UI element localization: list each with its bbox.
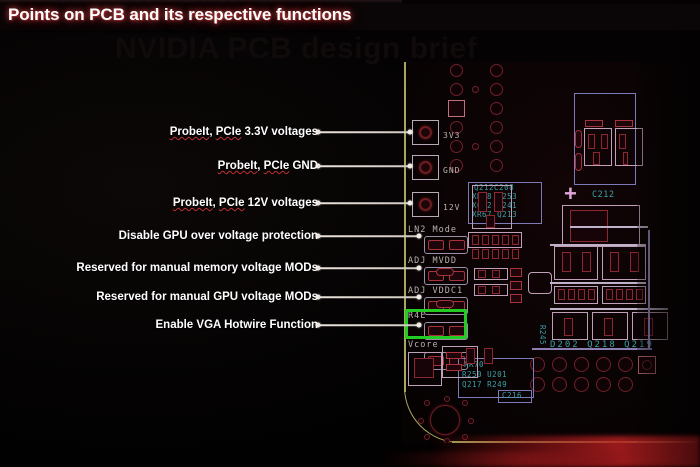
callout-layer: ProbeIt, PCIe 3.3V voltages ProbeIt, PCI… [0, 0, 700, 467]
callout-label-ln2-mode: Disable GPU over voltage protection [119, 230, 318, 242]
callout-leader-line [318, 296, 419, 298]
callout-endpoint-dot [417, 295, 422, 300]
callout-label-r4e-hotwire: Enable VGA Hotwire Function [156, 319, 319, 331]
callout-leader-line [318, 202, 410, 204]
callout-endpoint-dot [408, 164, 413, 169]
callout-endpoint-dot [408, 130, 413, 135]
callout-leader-line [318, 165, 410, 167]
screenshot-root: 3V3 GND 12V LN2 Mode ADJ MVDD ADJ VDDC1 … [0, 0, 700, 467]
callout-leader-line [318, 324, 419, 326]
callout-leader-line [318, 235, 419, 237]
callout-label-pcie-12v: ProbeIt, PCIe 12V voltages [173, 197, 318, 209]
callout-endpoint-dot [417, 323, 422, 328]
callout-label-adj-mvdd: Reserved for manual memory voltage MODs [76, 262, 318, 274]
callout-endpoint-dot [417, 266, 422, 271]
callout-leader-line [318, 131, 410, 133]
callout-endpoint-dot [408, 201, 413, 206]
callout-leader-line [318, 267, 419, 269]
callout-label-adj-vddc1: Reserved for manual GPU voltage MODs [96, 291, 318, 303]
callout-endpoint-dot [417, 234, 422, 239]
bottom-red-glow-secondary [380, 452, 620, 467]
callout-label-pcie-gnd: ProbeIt, PCIe GND [218, 160, 318, 172]
callout-label-pcie-3v3: ProbeIt, PCIe 3.3V voltages [170, 126, 318, 138]
